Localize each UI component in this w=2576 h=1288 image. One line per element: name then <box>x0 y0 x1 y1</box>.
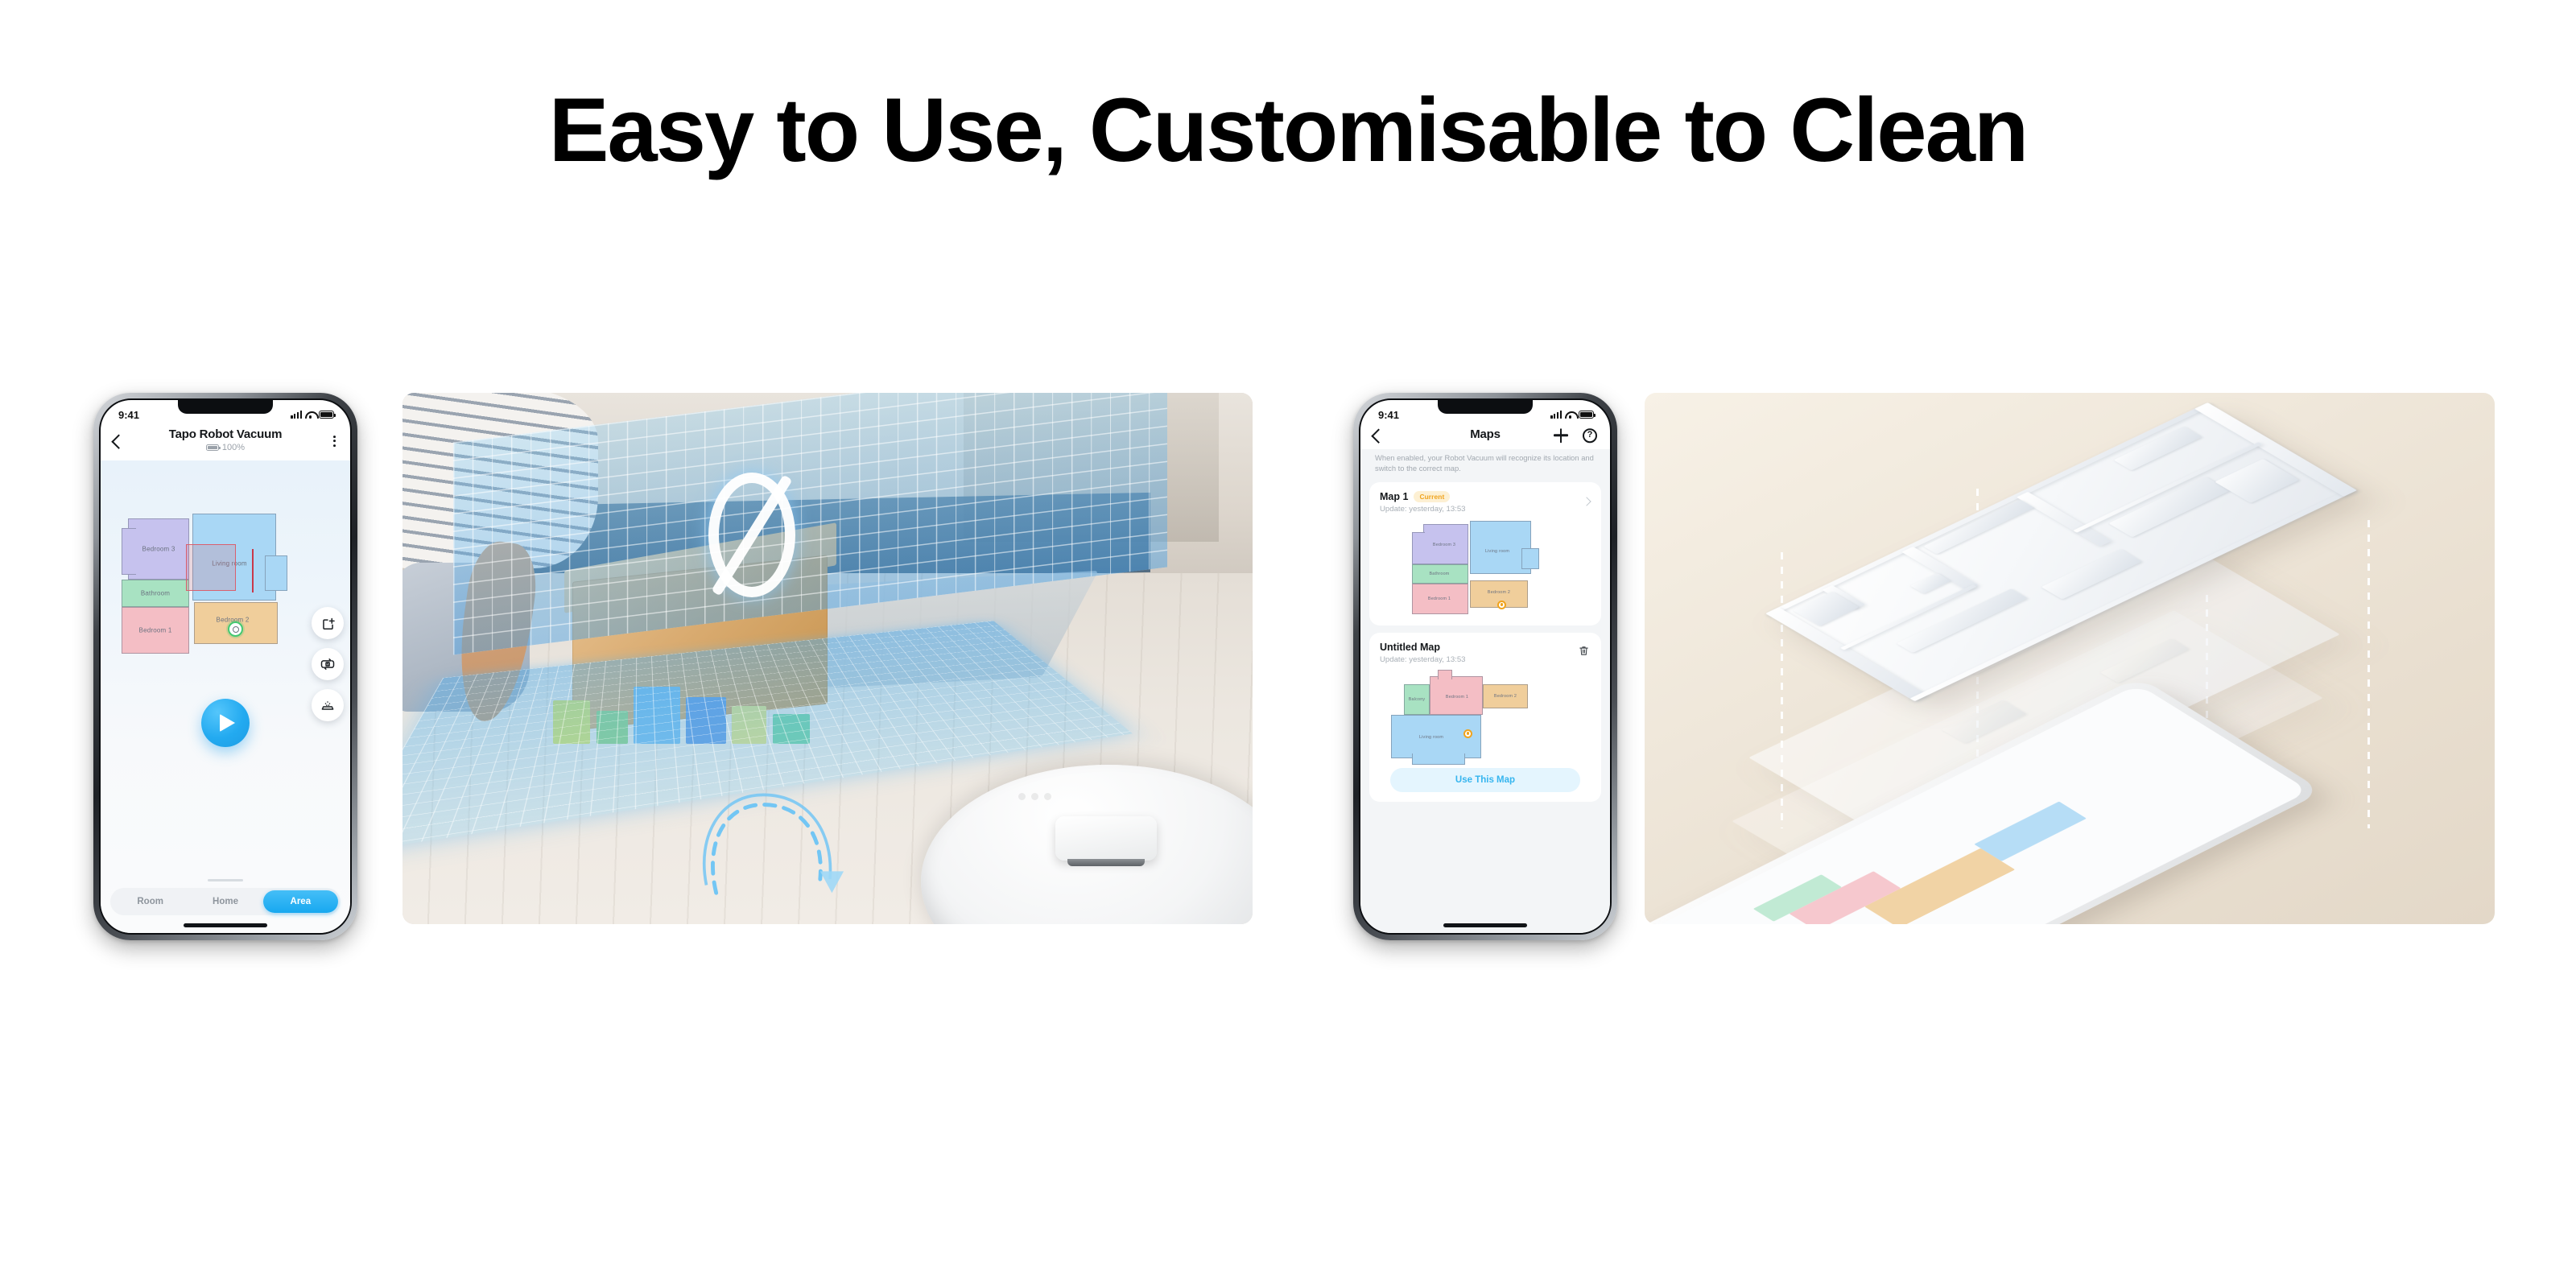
mode-tab-bar: Room Home Area <box>110 888 341 915</box>
room-living-room-ext <box>1412 753 1465 765</box>
no-entry-icon <box>708 473 795 597</box>
map-title: Untitled Map <box>1380 642 1440 653</box>
status-icons <box>1550 411 1594 419</box>
virtual-walls-photo <box>402 393 1253 924</box>
start-cleaning-button[interactable] <box>201 699 250 747</box>
status-time: 9:41 <box>1378 409 1399 421</box>
room-label: Balcony <box>1409 697 1426 702</box>
kebab-menu-icon[interactable] <box>333 436 336 448</box>
page-title: Easy to Use, Customisable to Clean <box>0 80 2576 180</box>
play-icon <box>220 714 235 732</box>
map-update-time: Update: yesterday, 13:53 <box>1380 505 1591 514</box>
phone-screen-maps: 9:41 Maps ? When enab <box>1360 400 1610 933</box>
page-title-maps: Maps <box>1470 427 1501 441</box>
robot-position-marker[interactable] <box>228 621 243 637</box>
room-living-room-ext <box>1521 548 1539 569</box>
repeat-1-icon <box>320 656 336 672</box>
phone-notch <box>1438 400 1533 414</box>
map-card-header: Untitled Map <box>1380 642 1591 653</box>
phone-notch <box>178 400 273 414</box>
exterior-wall <box>2194 402 2357 497</box>
sofa <box>1897 588 2028 653</box>
photo-scene <box>402 393 1253 924</box>
tab-home[interactable]: Home <box>188 890 262 913</box>
dock-marker <box>1497 601 1506 609</box>
battery-icon <box>206 444 219 451</box>
room-label: Living room <box>1485 549 1509 554</box>
map-card-1[interactable]: Map 1 Current Update: yesterday, 13:53 B… <box>1369 482 1601 625</box>
maps-list: When enabled, your Robot Vacuum will rec… <box>1360 449 1610 933</box>
battery-icon <box>319 411 334 419</box>
room-label: Bedroom 2 <box>1488 590 1510 595</box>
multi-floor-render <box>1645 393 2495 924</box>
furniture <box>1941 700 2027 743</box>
room-label: Living room <box>1419 735 1443 740</box>
home-indicator <box>184 923 267 927</box>
home-indicator <box>1443 923 1527 927</box>
battery-status: 100% <box>169 443 283 452</box>
vacuum-map-area: Bedroom 3 Living room Bathroom Bedroom 1 <box>101 460 350 933</box>
status-icons <box>291 411 334 419</box>
nav-title-group: Tapo Robot Vacuum 100% <box>169 427 283 452</box>
room-label: Bedroom 3 <box>142 546 175 553</box>
tab-room[interactable]: Room <box>113 890 188 913</box>
cellular-signal-icon <box>1550 411 1562 419</box>
suction-icon <box>320 697 336 713</box>
room-living-room-ext <box>265 555 287 591</box>
slab-surface <box>1765 402 2357 701</box>
bathtub <box>2113 427 2202 471</box>
repeat-count-button[interactable] <box>312 648 344 680</box>
map-thumbnail-1: Bedroom 3 Living room Bathroom Bedroom 1… <box>1380 519 1591 616</box>
help-circle-icon[interactable]: ? <box>1583 428 1597 443</box>
wifi-icon <box>305 411 316 419</box>
tab-area[interactable]: Area <box>263 890 338 913</box>
sheet-grabber[interactable] <box>208 879 243 881</box>
room-label: Bedroom 2 <box>1494 694 1517 699</box>
room-label: Bedroom 1 <box>1446 695 1468 700</box>
battery-icon <box>1579 411 1594 419</box>
room-label: Bedroom 1 <box>139 627 172 634</box>
delete-map-button[interactable] <box>1578 645 1590 661</box>
phone-bezel: 9:41 Tapo Robot Vacuum <box>99 398 352 935</box>
battery-percent: 100% <box>222 443 245 452</box>
nav-bar: Maps ? <box>1360 424 1610 449</box>
add-rectangle-icon <box>320 616 336 631</box>
wifi-icon <box>1565 411 1575 419</box>
trash-icon <box>1578 645 1590 657</box>
page-root: Easy to Use, Customisable to Clean 9:41 <box>0 0 2576 1288</box>
room-label: Bedroom 1 <box>1428 597 1451 601</box>
map-card-header: Map 1 Current <box>1380 491 1591 502</box>
render-scene <box>1645 393 2495 924</box>
robot-buttons <box>1018 793 1051 800</box>
room-living-room <box>1974 802 2086 861</box>
table <box>2041 549 2141 599</box>
phone-bezel: 9:41 Maps ? When enab <box>1359 398 1612 935</box>
map-update-time: Update: yesterday, 13:53 <box>1380 655 1591 664</box>
page-title-device: Tapo Robot Vacuum <box>169 427 283 441</box>
chevron-left-icon[interactable] <box>111 434 126 448</box>
room-bedroom-1-notch <box>1438 670 1452 679</box>
suction-level-button[interactable] <box>312 689 344 721</box>
add-zone-button[interactable] <box>312 607 344 639</box>
interior-wall <box>2016 492 2111 547</box>
wardrobe <box>2215 459 2299 503</box>
robot-path-arrow <box>649 775 921 902</box>
bed <box>2108 477 2230 538</box>
status-time: 9:41 <box>118 409 139 421</box>
dock-marker <box>1463 729 1472 738</box>
cellular-signal-icon <box>291 411 302 419</box>
virtual-wall[interactable] <box>252 549 254 592</box>
floor-map[interactable]: Bedroom 3 Living room Bathroom Bedroom 1 <box>115 514 316 667</box>
map-title: Map 1 <box>1380 491 1408 502</box>
phone-screen-vacuum: 9:41 Tapo Robot Vacuum <box>101 400 350 933</box>
status-badge: Current <box>1414 491 1450 502</box>
floor-slab-1 <box>1764 440 2359 663</box>
room-label: Bedroom 3 <box>1433 543 1455 547</box>
phone-mockup-vacuum: 9:41 Tapo Robot Vacuum <box>93 393 357 940</box>
plus-icon[interactable] <box>1554 428 1568 443</box>
map-tools <box>312 607 344 721</box>
use-this-map-button[interactable]: Use This Map <box>1390 768 1580 792</box>
maps-hint-text: When enabled, your Robot Vacuum will rec… <box>1360 449 1610 482</box>
no-go-zone[interactable] <box>186 544 236 591</box>
room-label: Bathroom <box>1430 572 1450 576</box>
chevron-left-icon[interactable] <box>1371 428 1385 443</box>
room-label: Bathroom <box>141 590 170 597</box>
map-card-2[interactable]: Untitled Map Update: yesterday, 13:53 <box>1369 633 1601 802</box>
exterior-wall <box>1765 402 2212 617</box>
lidar-turret <box>1055 816 1156 861</box>
kitchen-counter <box>1923 500 2034 554</box>
alignment-beam <box>2368 520 2370 828</box>
room-bedroom-3-notch <box>1412 532 1425 564</box>
map-thumbnail-2: Balcony Bedroom 1 Bedroom 2 Living room <box>1380 670 1591 766</box>
room-bedroom-3-notch <box>122 528 136 575</box>
phone-mockup-maps: 9:41 Maps ? When enab <box>1353 393 1617 940</box>
interior-wall <box>2073 442 2263 533</box>
nav-bar: Tapo Robot Vacuum 100% <box>101 424 350 460</box>
